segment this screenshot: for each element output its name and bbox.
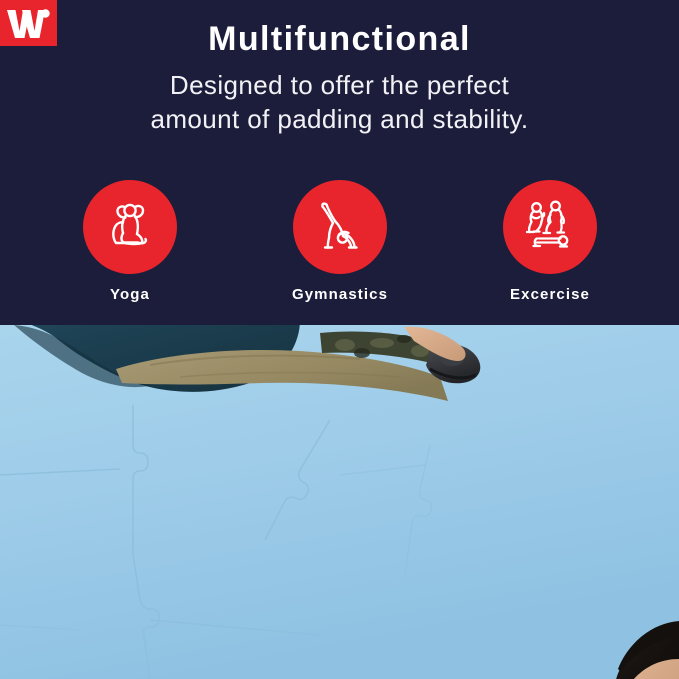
- feature-label-gymnastics: Gymnastics: [292, 286, 388, 303]
- feature-icon-circle: [293, 180, 387, 274]
- page-subtitle: Designed to offer the perfect amount of …: [0, 68, 679, 137]
- feature-label-yoga: Yoga: [110, 286, 150, 303]
- subtitle-line-2: amount of padding and stability.: [0, 102, 679, 136]
- gymnastics-bridge-figure-icon: [309, 196, 371, 258]
- feature-item-gymnastics[interactable]: Gymnastics: [250, 180, 430, 303]
- page-title: Multifunctional: [0, 20, 679, 59]
- feature-list: Yoga: [40, 180, 640, 303]
- subtitle-line-1: Designed to offer the perfect: [0, 68, 679, 102]
- feature-icon-circle: [503, 180, 597, 274]
- feature-item-exercise[interactable]: Excercise: [460, 180, 640, 303]
- header-panel: Multifunctional Designed to offer the pe…: [0, 0, 679, 326]
- photo-illustration: [0, 325, 679, 679]
- yoga-seated-figure-icon: [99, 196, 161, 258]
- exercise-group-figures-icon: [519, 196, 581, 258]
- feature-icon-circle: [83, 180, 177, 274]
- product-feature-banner: Multifunctional Designed to offer the pe…: [0, 0, 679, 679]
- feature-label-exercise: Excercise: [510, 286, 590, 303]
- feature-item-yoga[interactable]: Yoga: [40, 180, 220, 303]
- lifestyle-photo: [0, 325, 679, 679]
